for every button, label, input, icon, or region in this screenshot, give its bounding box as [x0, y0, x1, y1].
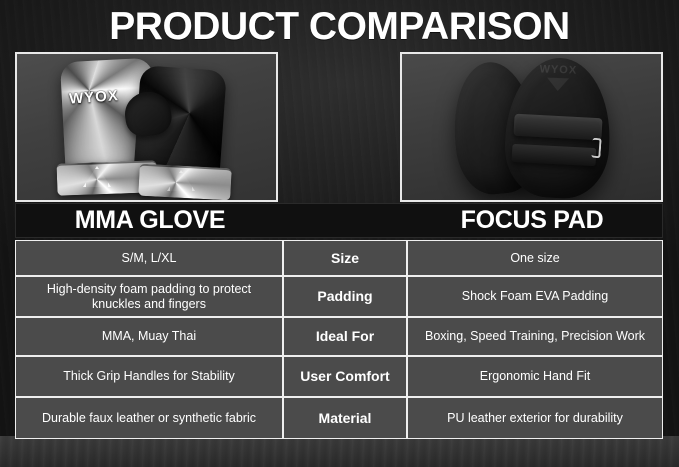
comparison-table-body: S/M, L/XL Size One size High-density foa… — [15, 240, 663, 439]
brand-triangle-icon — [547, 78, 569, 92]
cell-right-value: Boxing, Speed Training, Precision Work — [407, 317, 663, 356]
glove-scene: WYOX — [17, 54, 276, 200]
table-row: Durable faux leather or synthetic fabric… — [15, 397, 663, 439]
comparison-table: S/M, L/XL Size One size High-density foa… — [15, 240, 663, 439]
pad-hand-strap-icon — [513, 114, 602, 141]
pad-scene: WYOX — [402, 54, 661, 200]
cell-left-value: MMA, Muay Thai — [15, 317, 283, 356]
cell-right-value: Shock Foam EVA Padding — [407, 276, 663, 317]
mma-glove-image: WYOX — [17, 54, 276, 200]
product-comparison-infographic: PRODUCT COMPARISON WYOX WYOX — [0, 0, 679, 467]
cell-right-value: One size — [407, 240, 663, 276]
cell-left-value: High-density foam padding to protect knu… — [15, 276, 283, 317]
cell-attribute-label: Material — [283, 397, 407, 439]
product-name-left: MMA GLOVE — [16, 204, 284, 237]
pad-brand-text: WYOX — [539, 63, 577, 76]
table-row: S/M, L/XL Size One size — [15, 240, 663, 276]
pad-brand-mark: WYOX — [527, 63, 588, 99]
cell-right-value: Ergonomic Hand Fit — [407, 356, 663, 397]
product-image-panel-left: WYOX — [15, 52, 278, 202]
product-image-panel-right: WYOX — [400, 52, 663, 202]
focus-pad-image: WYOX — [402, 54, 661, 200]
cell-attribute-label: Size — [283, 240, 407, 276]
cell-right-value: PU leather exterior for durability — [407, 397, 663, 439]
table-row: Thick Grip Handles for Stability User Co… — [15, 356, 663, 397]
cell-attribute-label: Padding — [283, 276, 407, 317]
cell-attribute-label: User Comfort — [283, 356, 407, 397]
product-name-right: FOCUS PAD — [401, 204, 663, 237]
cell-left-value: S/M, L/XL — [15, 240, 283, 276]
product-name-bar: MMA GLOVE FOCUS PAD — [15, 203, 663, 238]
pad-buckle-icon — [591, 138, 601, 159]
table-row: MMA, Muay Thai Ideal For Boxing, Speed T… — [15, 317, 663, 356]
page-title: PRODUCT COMPARISON — [0, 3, 679, 49]
cell-left-value: Durable faux leather or synthetic fabric — [15, 397, 283, 439]
cell-attribute-label: Ideal For — [283, 317, 407, 356]
table-row: High-density foam padding to protect knu… — [15, 276, 663, 317]
cell-left-value: Thick Grip Handles for Stability — [15, 356, 283, 397]
